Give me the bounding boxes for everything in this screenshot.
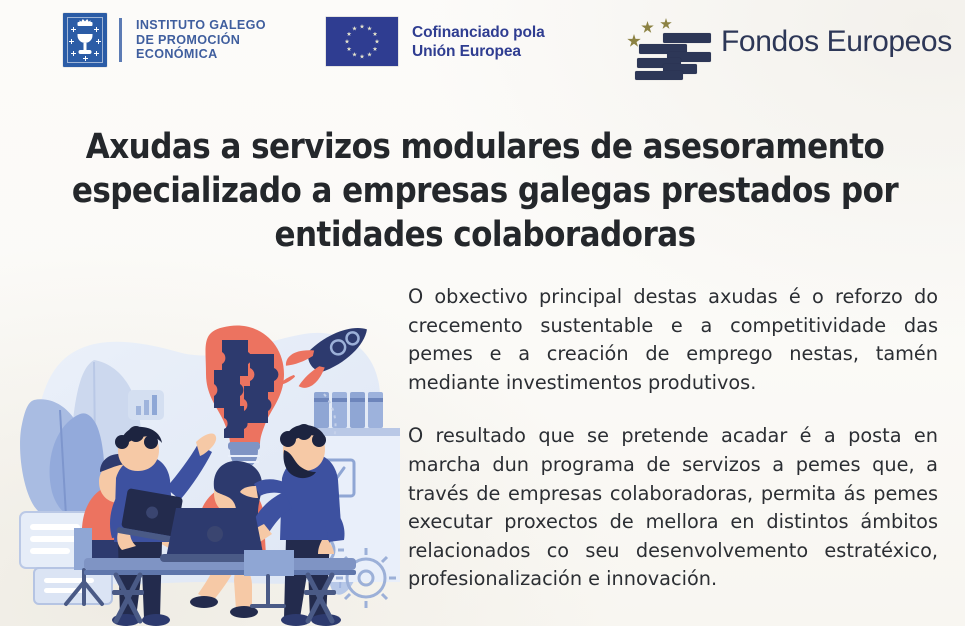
cross-icon (96, 39, 101, 44)
igape-line-3: ECONÓMICA (136, 47, 266, 62)
igape-line-2: DE PROMOCIÓN (136, 33, 266, 48)
eu-line-1: Cofinanciado pola (412, 23, 545, 42)
star-icon (347, 47, 352, 52)
star-icon (360, 54, 365, 59)
star-icon (372, 47, 377, 52)
star-icon (345, 39, 350, 44)
stepped-bar (635, 71, 683, 80)
cross-icon (71, 51, 76, 56)
igape-line-1: INSTITUTO GALEGO (136, 18, 266, 33)
eu-line-2: Unión Europea (412, 42, 545, 61)
star-icon (352, 52, 357, 57)
chalice-icon (78, 34, 93, 55)
logo-fondos-europeos: Fondos Europeos (623, 9, 952, 75)
star-icon (641, 21, 654, 34)
xunta-coat-of-arms-icon (63, 13, 107, 67)
star-icon (367, 26, 372, 31)
logo-european-union: Cofinanciado pola Unión Europea (326, 17, 545, 66)
title-line-2: especializado a empresas galegas prestad… (40, 169, 930, 213)
cross-icon (69, 39, 74, 44)
cross-icon (94, 27, 99, 32)
star-icon (360, 24, 365, 29)
eu-wordmark: Cofinanciado pola Unión Europea (412, 23, 545, 61)
body-paragraph-2: O resultado que se pretende acadar é a p… (408, 422, 938, 594)
fondos-europeos-mark-icon (623, 9, 711, 75)
cross-icon (71, 27, 76, 32)
stepped-bar (663, 33, 711, 43)
body-copy: O obxectivo principal destas axudas é o … (408, 283, 938, 594)
star-icon (367, 52, 372, 57)
page-title: Axudas a servizos modulares de asesorame… (40, 125, 930, 257)
logo-divider (119, 18, 122, 62)
fondos-europeos-wordmark: Fondos Europeos (721, 25, 952, 59)
title-line-1: Axudas a servizos modulares de asesorame… (40, 125, 930, 169)
star-icon (372, 32, 377, 37)
logo-bar: INSTITUTO GALEGO DE PROMOCIÓN ECONÓMICA … (0, 0, 965, 86)
body-paragraph-1: O obxectivo principal destas axudas é o … (408, 283, 938, 397)
title-line-3: entidades colaboradoras (40, 213, 930, 257)
star-icon (347, 32, 352, 37)
team-collaboration-illustration (8, 282, 400, 626)
crown-icon (78, 19, 93, 26)
european-union-flag-icon (326, 17, 398, 66)
cross-icon (94, 51, 99, 56)
star-icon (375, 39, 380, 44)
logo-igape: INSTITUTO GALEGO DE PROMOCIÓN ECONÓMICA (63, 13, 266, 67)
star-icon (352, 26, 357, 31)
star-icon (660, 18, 672, 30)
cross-icon (83, 56, 88, 61)
igape-wordmark: INSTITUTO GALEGO DE PROMOCIÓN ECONÓMICA (136, 18, 266, 62)
